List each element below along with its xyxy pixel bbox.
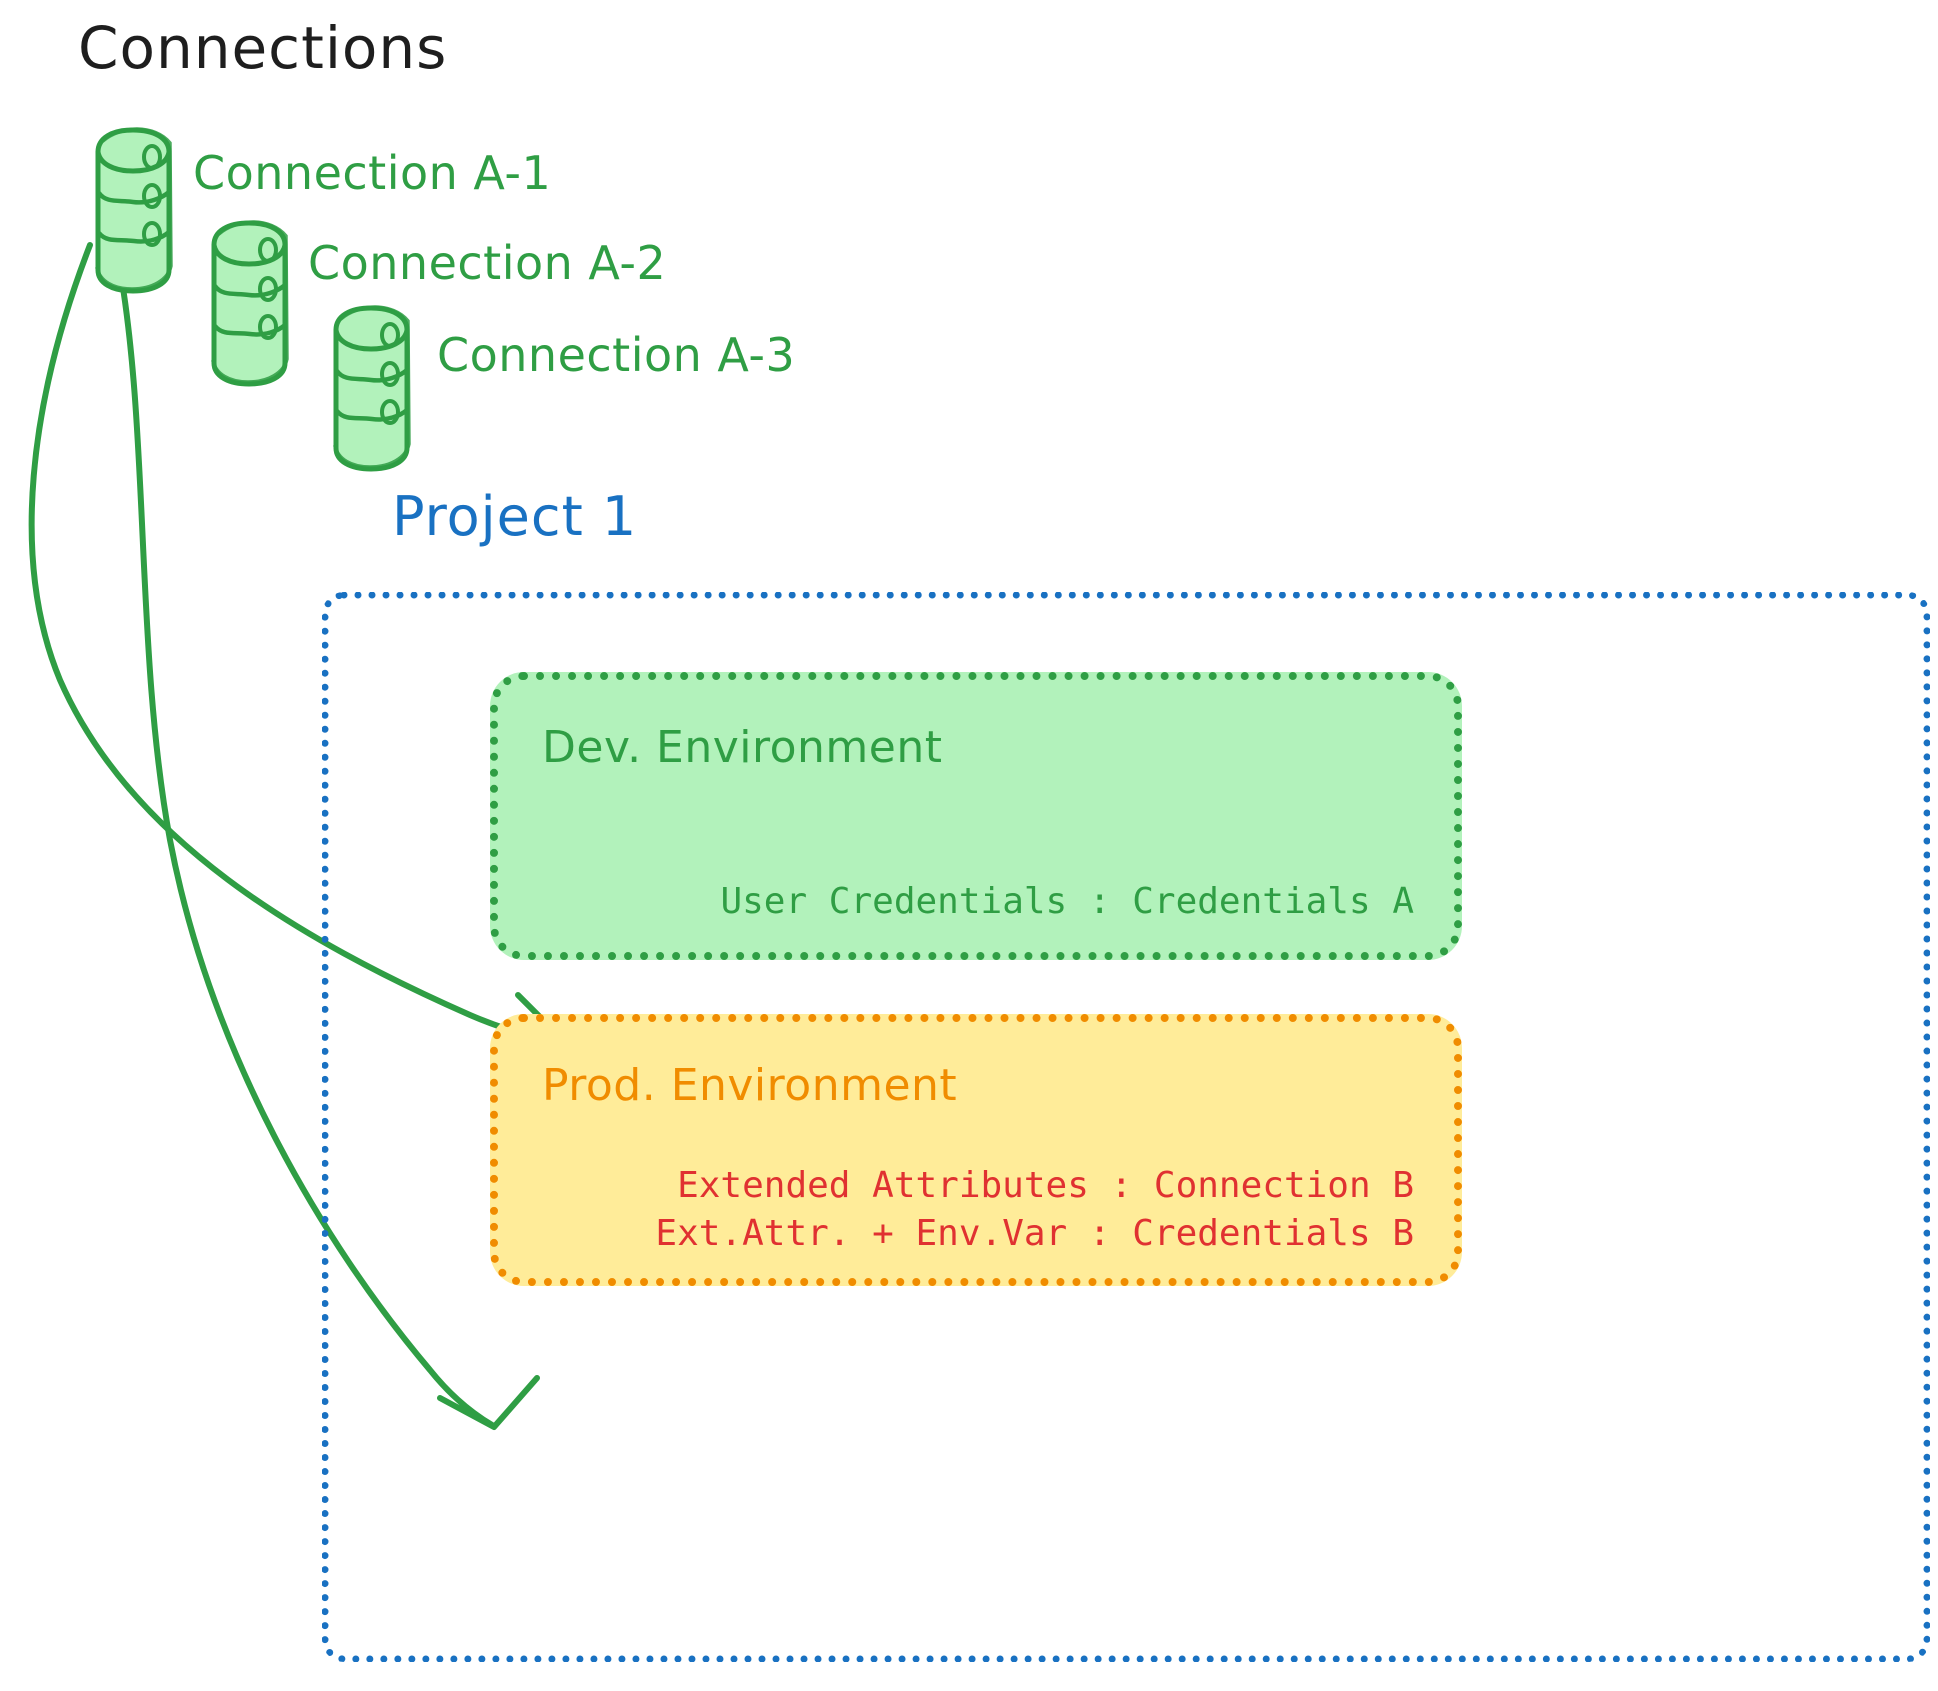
dev-environment-title: Dev. Environment	[542, 722, 943, 773]
diagram-canvas: Connections Connection A-1 Connection A-…	[0, 0, 1938, 1691]
connection-label-a1: Connection A-1	[193, 146, 551, 200]
prod-environment-lines: Extended Attributes : Connection B Ext.A…	[655, 1162, 1414, 1258]
prod-environment-box[interactable]: Prod. Environment Extended Attributes : …	[490, 1014, 1462, 1286]
dev-environment-lines: User Credentials : Credentials A	[720, 878, 1414, 926]
dev-environment-box[interactable]: Dev. Environment User Credentials : Cred…	[490, 672, 1462, 960]
database-cylinder-icon-2	[213, 222, 287, 384]
database-cylinder-icon-1	[97, 129, 171, 291]
project-title: Project 1	[392, 485, 637, 548]
prod-extended-attributes-line: Extended Attributes : Connection B	[655, 1162, 1414, 1210]
dev-credentials-line: User Credentials : Credentials A	[720, 878, 1414, 926]
connection-label-a2: Connection A-2	[308, 236, 666, 290]
page-title: Connections	[78, 14, 447, 82]
database-cylinder-icon-3	[335, 307, 409, 469]
prod-env-var-line: Ext.Attr. + Env.Var : Credentials B	[655, 1210, 1414, 1258]
connection-label-a3: Connection A-3	[437, 328, 795, 382]
prod-environment-title: Prod. Environment	[542, 1060, 957, 1111]
